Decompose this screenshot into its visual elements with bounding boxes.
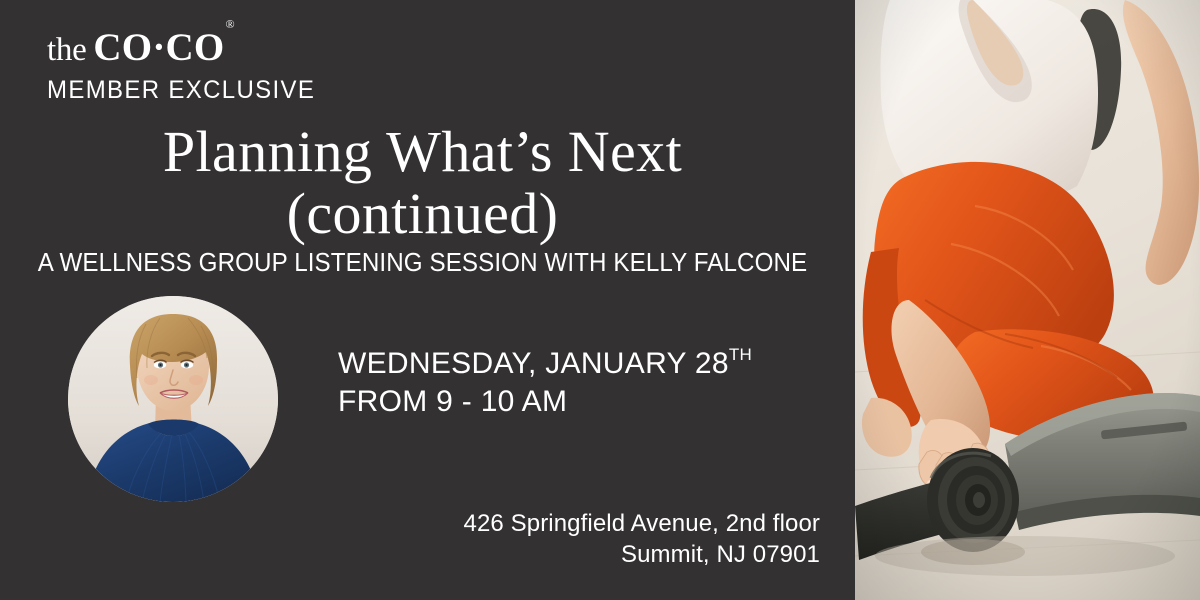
event-date: WEDNESDAY, JANUARY 28TH (338, 345, 752, 383)
event-date-ordinal: TH (729, 345, 752, 364)
content-panel: the CO·CO® MEMBER EXCLUSIVE Planning Wha… (0, 0, 855, 600)
registered-trademark-icon: ® (225, 17, 234, 31)
logo-lockup: the CO·CO® (47, 28, 326, 67)
event-title-line-1: Planning What’s Next (0, 122, 845, 182)
speaker-portrait (68, 296, 278, 502)
event-date-text: WEDNESDAY, JANUARY 28 (338, 347, 729, 380)
venue-address: 426 Springfield Avenue, 2nd floor Summit… (464, 508, 820, 570)
venue-street: 426 Springfield Avenue, 2nd floor (464, 508, 820, 539)
logo-the-text: the (47, 34, 86, 67)
event-time: FROM 9 - 10 AM (338, 383, 752, 421)
member-exclusive-tagline: MEMBER EXCLUSIVE (47, 78, 315, 103)
event-datetime: WEDNESDAY, JANUARY 28TH FROM 9 - 10 AM (338, 345, 752, 422)
event-subtitle: A WELLNESS GROUP LISTENING SESSION WITH … (30, 249, 816, 275)
event-title: Planning What’s Next (continued) (0, 122, 845, 247)
venue-city-state-zip: Summit, NJ 07901 (464, 539, 820, 570)
event-banner: the CO·CO® MEMBER EXCLUSIVE Planning Wha… (0, 0, 1200, 600)
yoga-photo (855, 0, 1200, 600)
event-title-line-2: (continued) (0, 182, 845, 247)
logo-coco-text: CO·CO® (93, 28, 233, 67)
brand-logo: the CO·CO® MEMBER EXCLUSIVE (47, 28, 326, 103)
